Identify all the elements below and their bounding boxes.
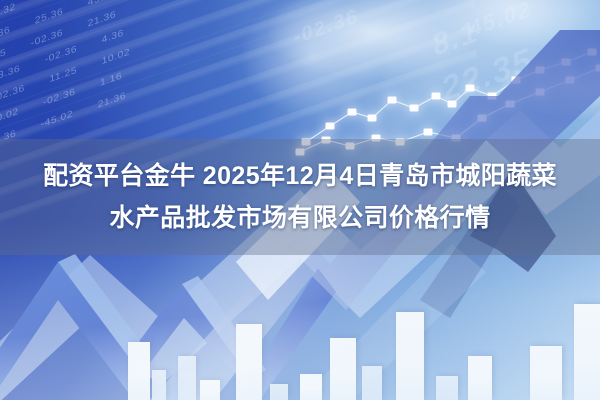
caption-block: 配资平台金牛 2025年12月4日青岛市城阳蔬菜 水产品批发市场有限公司价格行情	[0, 139, 600, 255]
caption-line-2: 水产品批发市场有限公司价格行情	[109, 198, 490, 238]
caption-line-1: 配资平台金牛 2025年12月4日青岛市城阳蔬菜	[43, 156, 557, 196]
banner-image: -50.02-02.36-11.2545.0221.36-98.02-02.36…	[0, 0, 600, 400]
